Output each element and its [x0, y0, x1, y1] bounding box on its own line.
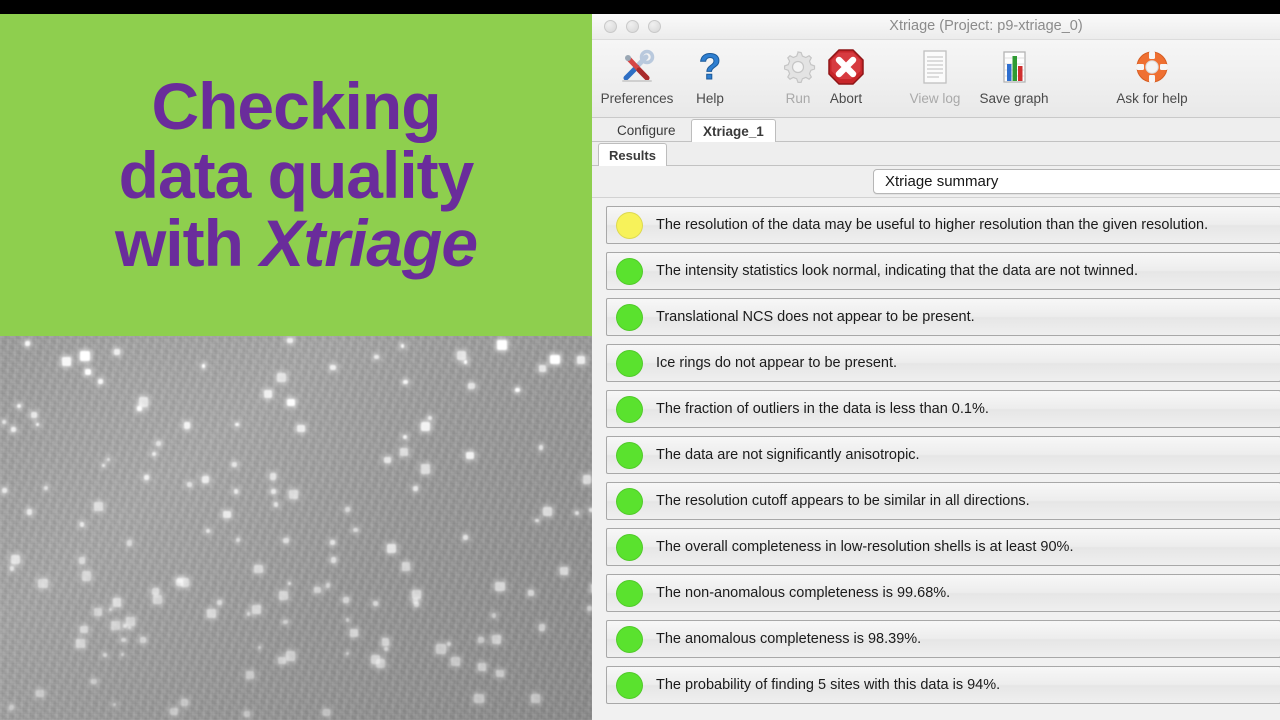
diffraction-spot [539, 624, 545, 630]
diffraction-spot [11, 427, 16, 432]
status-ok-icon [616, 580, 643, 607]
diffraction-spot [583, 475, 591, 483]
diffraction-spot [474, 694, 483, 703]
status-ok-icon [616, 258, 643, 285]
diffraction-spot [246, 671, 254, 679]
result-row[interactable]: Translational NCS does not appear to be … [606, 298, 1280, 336]
diffraction-spot [94, 502, 103, 511]
diffraction-spot [464, 360, 467, 363]
diffraction-spot [140, 637, 147, 644]
diffraction-spot [468, 383, 475, 390]
diffraction-spot [314, 587, 320, 593]
status-ok-icon [616, 626, 643, 653]
diffraction-spot [331, 557, 337, 563]
diffraction-spot [283, 620, 287, 624]
diffraction-spot [126, 617, 135, 626]
result-text: The probability of finding 5 sites with … [656, 677, 1000, 693]
diffraction-spot [436, 644, 446, 654]
diffraction-spot [278, 657, 285, 664]
diffraction-spot [2, 488, 7, 493]
result-text: The data are not significantly anisotrop… [656, 447, 920, 463]
secondary-tabbar: Results [592, 142, 1280, 166]
diffraction-spot [128, 626, 132, 630]
diffraction-spot [80, 522, 84, 526]
summary-selector-bar: Xtriage summary [592, 166, 1280, 198]
diffraction-spot [264, 390, 272, 398]
diffraction-spot [402, 562, 411, 571]
result-row[interactable]: The data are not significantly anisotrop… [606, 436, 1280, 474]
diffraction-spot [121, 638, 125, 642]
diffraction-spot [478, 637, 484, 643]
diffraction-spot [103, 653, 107, 657]
diffraction-spot [94, 608, 102, 616]
diffraction-spot [353, 528, 357, 532]
result-text: Ice rings do not appear to be present. [656, 355, 897, 371]
diffraction-spot [10, 566, 15, 571]
result-row[interactable]: The non-anomalous completeness is 99.68%… [606, 574, 1280, 612]
result-row[interactable]: The anomalous completeness is 98.39%. [606, 620, 1280, 658]
diffraction-spot [38, 579, 47, 588]
status-ok-icon [616, 350, 643, 377]
toolbar-button-save-graph[interactable]: Save graph [970, 46, 1058, 106]
bar-chart-icon [992, 46, 1036, 88]
diffraction-spot [62, 357, 71, 366]
diffraction-spot [91, 679, 96, 684]
status-ok-icon [616, 488, 643, 515]
diffraction-spot [254, 565, 263, 574]
diffraction-spot [17, 404, 21, 408]
diffraction-spot [252, 605, 261, 614]
diffraction-spot [286, 651, 295, 660]
diffraction-spot [387, 544, 396, 553]
diffraction-spot [223, 511, 230, 518]
slide-panel: Checking data quality with Xtriage [0, 0, 592, 720]
result-text: The resolution cutoff appears to be simi… [656, 493, 1030, 509]
diffraction-spot [111, 621, 120, 630]
diffraction-spot [492, 635, 501, 644]
diffraction-spot [401, 344, 404, 347]
diffraction-spot [144, 475, 149, 480]
toolbar-button-abort[interactable]: Abort [803, 46, 889, 106]
diffraction-spot [345, 507, 350, 512]
diffraction-spot [271, 489, 276, 494]
xtriage-summary-dropdown-value: Xtriage summary [885, 173, 998, 190]
slide-title-line-2: data quality [119, 141, 474, 210]
toolbar-button-ask-for-help[interactable]: Ask for help [1102, 46, 1202, 106]
diffraction-spot [76, 639, 85, 648]
result-text: Translational NCS does not appear to be … [656, 309, 975, 325]
diffraction-spot [113, 598, 122, 607]
diffraction-spot [297, 425, 304, 432]
result-row[interactable]: The fraction of outliers in the data is … [606, 390, 1280, 428]
diffraction-spot [497, 340, 507, 350]
diffraction-spot [421, 422, 430, 431]
document-icon [913, 46, 957, 88]
diffraction-spot [577, 356, 585, 364]
diffraction-spot [114, 349, 120, 355]
diffraction-spot [528, 590, 534, 596]
diffraction-spot [550, 355, 560, 365]
status-ok-icon [616, 672, 643, 699]
slide-title-with: with [115, 206, 260, 280]
toolbar-label-ask-for-help: Ask for help [1116, 91, 1187, 106]
diffraction-spot [152, 452, 156, 456]
result-text: The anomalous completeness is 98.39%. [656, 631, 921, 647]
screenshot-root: Checking data quality with Xtriage Xtria… [0, 0, 1280, 720]
diffraction-spot [236, 538, 240, 542]
result-row[interactable]: The intensity statistics look normal, in… [606, 252, 1280, 290]
diffraction-spot [279, 591, 289, 601]
diffraction-spot [457, 351, 466, 360]
xtriage-application-window: Xtriage (Project: p9-xtriage_0) [592, 14, 1280, 720]
diffraction-spot [31, 412, 37, 418]
diffraction-spot [127, 540, 133, 546]
primary-tabbar: Configure Xtriage_1 [592, 118, 1280, 142]
diffraction-spot [496, 670, 503, 677]
toolbar-label-save-graph: Save graph [979, 91, 1048, 106]
diffraction-spot [270, 473, 277, 480]
diffraction-spot [85, 369, 91, 375]
diffraction-spot [202, 476, 209, 483]
diffraction-spot [478, 663, 486, 671]
diffraction-spot [421, 464, 430, 473]
result-text: The fraction of outliers in the data is … [656, 401, 989, 417]
stop-octagon-icon [824, 46, 868, 88]
diffraction-spot [451, 657, 460, 666]
diffraction-spot [326, 583, 330, 587]
status-ok-icon [616, 396, 643, 423]
diffraction-spot [535, 519, 538, 522]
toolbar: Preferences ? Help [592, 40, 1280, 118]
diffraction-spot [330, 365, 335, 370]
results-list[interactable]: The resolution of the data may be useful… [592, 198, 1280, 720]
diffraction-spot [184, 422, 190, 428]
diffraction-spot [382, 638, 390, 646]
diffraction-spot [515, 388, 520, 393]
diffraction-spot [400, 448, 408, 456]
diffraction-spot [170, 708, 178, 716]
window-titlebar: Xtriage (Project: p9-xtriage_0) [592, 14, 1280, 40]
slide-title-card: Checking data quality with Xtriage [0, 14, 592, 336]
result-row[interactable]: The resolution cutoff appears to be simi… [606, 482, 1280, 520]
diffraction-spot [232, 462, 237, 467]
diffraction-spot [258, 646, 261, 649]
diffraction-spot [153, 595, 162, 604]
status-ok-icon [616, 442, 643, 469]
diffraction-spot [283, 538, 288, 543]
diffraction-spot [323, 709, 330, 716]
diffraction-spot [350, 629, 358, 637]
diffraction-spot [139, 397, 149, 407]
diffraction-spot [152, 588, 159, 595]
result-text: The overall completeness in low-resoluti… [656, 539, 1073, 555]
lifebuoy-icon [1130, 46, 1174, 88]
toolbar-label-abort: Abort [830, 91, 862, 106]
slide-title-xtriage: Xtriage [260, 206, 477, 280]
diffraction-spot [181, 699, 189, 707]
diffraction-spot [79, 557, 85, 563]
diffraction-spot [277, 373, 285, 381]
toolbar-label-view-log: View log [910, 91, 961, 106]
diffraction-spot [287, 338, 292, 343]
diffraction-spot [346, 618, 349, 621]
diffraction-spot [217, 600, 221, 604]
tools-icon [615, 46, 659, 88]
status-ok-icon [616, 304, 643, 331]
diffraction-spot [376, 659, 385, 668]
diffraction-spot [587, 606, 592, 611]
toolbar-button-view-log[interactable]: View log [899, 46, 971, 106]
diffraction-spot [11, 555, 20, 564]
diffraction-spot [289, 490, 298, 499]
slide-title-line-1: Checking [151, 72, 440, 141]
diffraction-noise [0, 336, 592, 720]
slide-title-line-3: with Xtriage [115, 209, 477, 278]
diffraction-spot [495, 582, 505, 592]
diffraction-spot [543, 507, 552, 516]
diffraction-spot [113, 703, 116, 706]
diffraction-image [0, 336, 592, 720]
question-mark-icon: ? [688, 46, 732, 88]
tab-xtriage-1[interactable]: Xtriage_1 [691, 119, 776, 142]
result-text: The non-anomalous completeness is 99.68%… [656, 585, 950, 601]
diffraction-spot [36, 690, 43, 697]
tab-configure[interactable]: Configure [606, 119, 687, 141]
status-ok-icon [616, 534, 643, 561]
toolbar-label-help: Help [696, 91, 724, 106]
result-text: The intensity statistics look normal, in… [656, 263, 1138, 279]
diffraction-spot [80, 626, 88, 634]
diffraction-spot [343, 597, 349, 603]
svg-text:?: ? [699, 47, 721, 87]
diffraction-spot [560, 567, 568, 575]
diffraction-spot [384, 457, 390, 463]
diffraction-spot [531, 694, 540, 703]
toolbar-button-help[interactable]: ? Help [667, 46, 753, 106]
diffraction-spot [207, 609, 216, 618]
diffraction-spot [82, 571, 91, 580]
diffraction-spot [447, 642, 451, 646]
diffraction-spot [234, 489, 239, 494]
diffraction-spot [539, 445, 543, 449]
diffraction-spot [235, 423, 238, 426]
diffraction-spot [27, 509, 32, 514]
result-row[interactable]: The resolution of the data may be useful… [606, 206, 1280, 244]
result-row[interactable]: Ice rings do not appear to be present. [606, 344, 1280, 382]
diffraction-spot [25, 341, 30, 346]
diffraction-spot [244, 711, 250, 717]
window-title: Xtriage (Project: p9-xtriage_0) [592, 18, 1280, 34]
diffraction-spot [466, 452, 473, 459]
result-row[interactable]: The overall completeness in low-resoluti… [606, 528, 1280, 566]
status-warning-icon [616, 212, 643, 239]
diffraction-spot [287, 399, 294, 406]
result-text: The resolution of the data may be useful… [656, 217, 1208, 233]
diffraction-spot [413, 486, 418, 491]
diffraction-spot [80, 351, 90, 361]
toolbar-label-preferences: Preferences [601, 91, 674, 106]
xtriage-summary-dropdown[interactable]: Xtriage summary [873, 169, 1280, 194]
tab-results[interactable]: Results [598, 143, 667, 166]
result-row[interactable]: The probability of finding 5 sites with … [606, 666, 1280, 704]
diffraction-spot [176, 579, 183, 586]
diffraction-spot [463, 535, 468, 540]
diffraction-spot [539, 365, 546, 372]
diffraction-spot [414, 602, 418, 606]
